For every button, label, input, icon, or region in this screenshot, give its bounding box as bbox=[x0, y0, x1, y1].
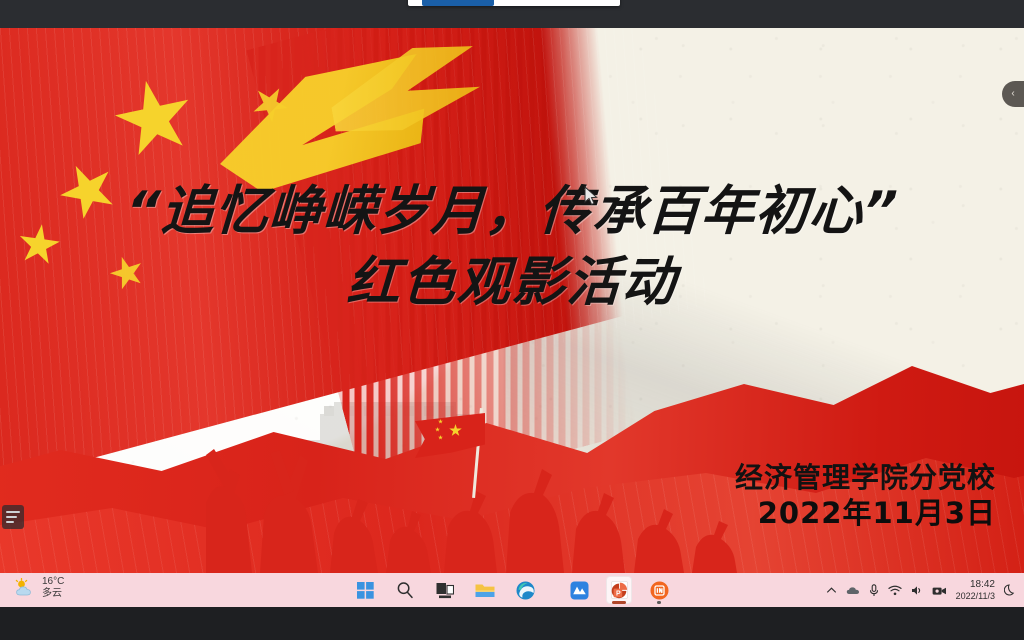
tencent-meeting-icon bbox=[570, 581, 589, 600]
folder-icon bbox=[475, 582, 495, 599]
start-button[interactable] bbox=[352, 576, 378, 604]
powerpoint-button[interactable]: P bbox=[606, 576, 632, 604]
signature-date: 2022年11月3日 bbox=[735, 495, 996, 531]
menu-line-icon bbox=[6, 511, 20, 513]
running-indicator bbox=[657, 601, 661, 604]
svg-text:P: P bbox=[616, 590, 621, 597]
floating-menu-widget[interactable] bbox=[2, 505, 24, 529]
slide-signature: 经济管理学院分党校 2022年11月3日 bbox=[735, 460, 996, 531]
collapse-panel-tab[interactable]: ‹ bbox=[1002, 81, 1024, 107]
chevron-left-icon: ‹ bbox=[1011, 89, 1014, 99]
tencent-meeting-button[interactable] bbox=[566, 576, 592, 604]
powerpoint-icon: P bbox=[611, 581, 628, 599]
wifi-icon[interactable] bbox=[888, 585, 902, 596]
screen-share-toolbar[interactable] bbox=[408, 0, 620, 6]
search-icon bbox=[396, 581, 414, 599]
share-toolbar-active-button[interactable] bbox=[422, 0, 494, 6]
clock-date: 2022/11/3 bbox=[956, 591, 995, 602]
screen: “追忆峥嵘岁月，传承百年初心” 红色观影活动 经济管理学院分党校 2022年11… bbox=[0, 0, 1024, 640]
windows-logo-icon bbox=[357, 582, 374, 599]
task-view-icon bbox=[436, 582, 454, 599]
search-button[interactable] bbox=[392, 576, 418, 604]
screen-share-bottom-bar: 2020032166朱淳熙的屏幕共享 bbox=[0, 607, 1024, 640]
edge-browser-icon bbox=[516, 581, 535, 600]
moon-icon[interactable] bbox=[1004, 584, 1016, 597]
desktop-top-strip bbox=[0, 0, 1024, 28]
presentation-slide[interactable]: “追忆峥嵘岁月，传承百年初心” 红色观影活动 经济管理学院分党校 2022年11… bbox=[0, 28, 1024, 573]
edge-button[interactable] bbox=[512, 576, 538, 604]
chevron-up-icon[interactable] bbox=[826, 585, 837, 596]
camera-icon[interactable] bbox=[932, 585, 947, 596]
windows-taskbar[interactable]: 16°C 多云 bbox=[0, 573, 1024, 607]
orange-app-icon bbox=[650, 581, 669, 600]
system-tray: 18:42 2022/11/3 bbox=[826, 573, 1016, 607]
signature-organization: 经济管理学院分党校 bbox=[735, 460, 996, 495]
microphone-icon[interactable] bbox=[869, 584, 879, 597]
running-indicator bbox=[612, 601, 626, 604]
cloud-icon[interactable] bbox=[846, 585, 860, 596]
speaker-icon[interactable] bbox=[911, 585, 923, 596]
file-explorer-button[interactable] bbox=[472, 576, 498, 604]
menu-line-icon bbox=[6, 521, 14, 523]
menu-line-icon bbox=[6, 516, 17, 518]
task-view-button[interactable] bbox=[432, 576, 458, 604]
taskbar-clock[interactable]: 18:42 2022/11/3 bbox=[956, 579, 995, 602]
wps-button[interactable] bbox=[646, 576, 672, 604]
clock-time: 18:42 bbox=[970, 579, 995, 591]
